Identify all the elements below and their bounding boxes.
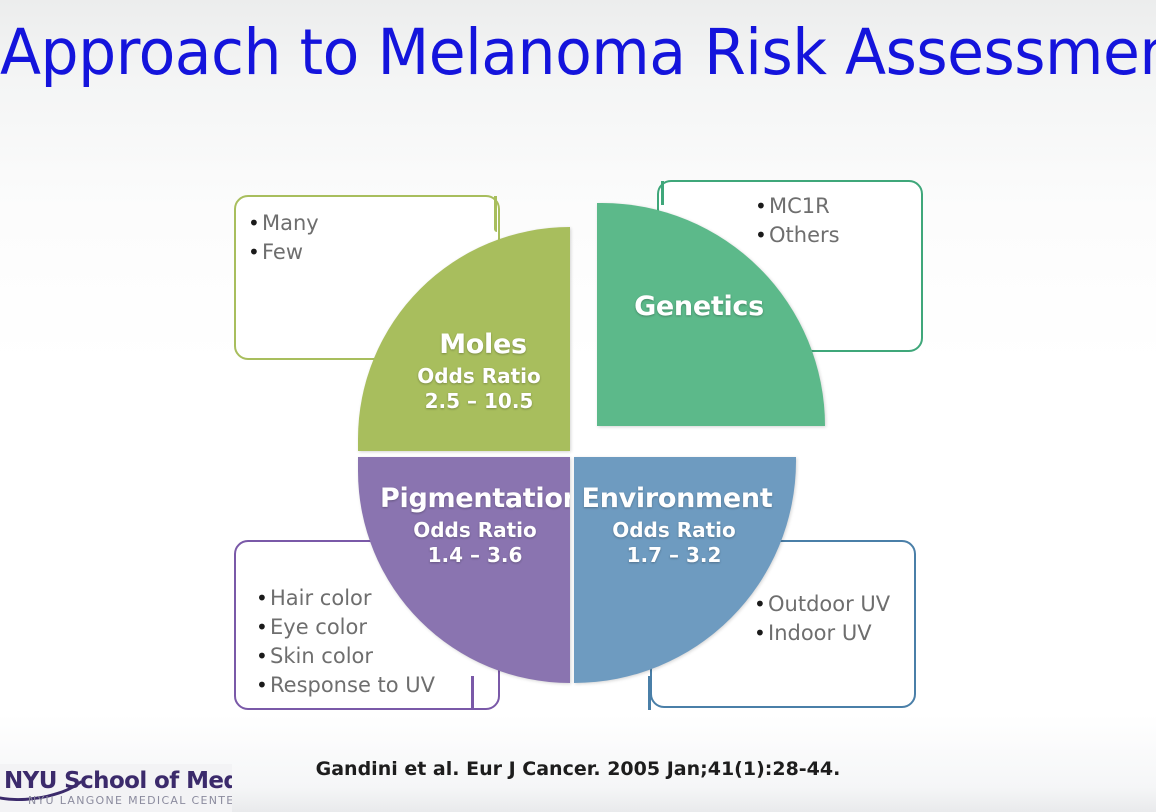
odds-ratio-label: Odds Ratio [358, 518, 570, 542]
risk-factor-wheel: Moles Odds Ratio 2.5 – 10.5 Genetics Pig… [358, 203, 828, 683]
nyu-logo: NYU School of Medicine NYU LANGONE MEDIC… [0, 764, 232, 812]
odds-ratio-value: 1.7 – 3.2 [574, 543, 796, 567]
odds-ratio-value: 2.5 – 10.5 [358, 389, 570, 413]
odds-ratio-value: 1.4 – 3.6 [358, 543, 570, 567]
page-title: Approach to Melanoma Risk Assessment [0, 16, 1156, 90]
slide-canvas: Approach to Melanoma Risk Assessment Man… [0, 0, 1156, 812]
odds-ratio-label: Odds Ratio [358, 364, 570, 388]
logo-primary-text: NYU School of Medicine [4, 768, 232, 794]
quadrant-label: Environment [574, 483, 796, 514]
logo-secondary-text: NYU LANGONE MEDICAL CENTER [28, 794, 232, 807]
connector-line-genetics-top [661, 181, 664, 205]
quadrant-environment[interactable]: Environment Odds Ratio 1.7 – 3.2 [574, 457, 796, 683]
quadrant-label: Moles [358, 329, 570, 360]
odds-ratio-label: Odds Ratio [574, 518, 796, 542]
quadrant-label: Genetics [597, 291, 825, 322]
quadrant-pigmentation[interactable]: Pigmentation Odds Ratio 1.4 – 3.6 [358, 457, 570, 683]
quadrant-genetics[interactable]: Genetics [597, 203, 825, 426]
quadrant-label: Pigmentation [358, 483, 570, 514]
quadrant-moles[interactable]: Moles Odds Ratio 2.5 – 10.5 [358, 227, 570, 451]
